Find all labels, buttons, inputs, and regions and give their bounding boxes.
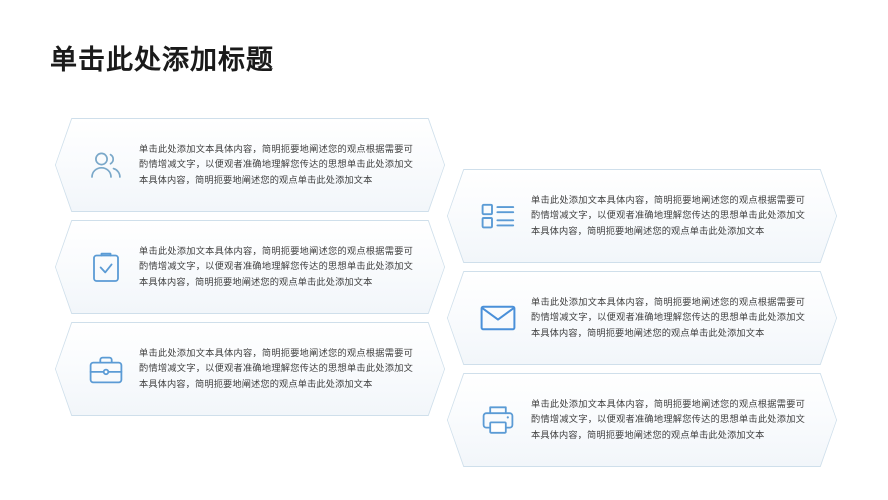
clipboard-check-icon bbox=[73, 251, 139, 283]
card-body-text: 单击此处添加文本具体内容，简明扼要地阐述您的观点根据需要可酌情增减文字，以便观者… bbox=[139, 142, 445, 188]
content-card-envelope[interactable]: 单击此处添加文本具体内容，简明扼要地阐述您的观点根据需要可酌情增减文字，以便观者… bbox=[447, 271, 837, 365]
content-card-list[interactable]: 单击此处添加文本具体内容，简明扼要地阐述您的观点根据需要可酌情增减文字，以便观者… bbox=[447, 169, 837, 263]
card-body-text: 单击此处添加文本具体内容，简明扼要地阐述您的观点根据需要可酌情增减文字，以便观者… bbox=[139, 346, 445, 392]
users-icon bbox=[73, 150, 139, 180]
briefcase-icon bbox=[73, 355, 139, 384]
content-card-printer[interactable]: 单击此处添加文本具体内容，简明扼要地阐述您的观点根据需要可酌情增减文字，以便观者… bbox=[447, 373, 837, 467]
content-card-clipboard[interactable]: 单击此处添加文本具体内容，简明扼要地阐述您的观点根据需要可酌情增减文字，以便观者… bbox=[55, 220, 445, 314]
list-icon bbox=[465, 203, 531, 229]
envelope-icon bbox=[465, 305, 531, 331]
card-body-text: 单击此处添加文本具体内容，简明扼要地阐述您的观点根据需要可酌情增减文字，以便观者… bbox=[531, 193, 837, 239]
printer-icon bbox=[465, 405, 531, 435]
card-body-text: 单击此处添加文本具体内容，简明扼要地阐述您的观点根据需要可酌情增减文字，以便观者… bbox=[139, 244, 445, 290]
card-body-text: 单击此处添加文本具体内容，简明扼要地阐述您的观点根据需要可酌情增减文字，以便观者… bbox=[531, 295, 837, 341]
content-card-briefcase[interactable]: 单击此处添加文本具体内容，简明扼要地阐述您的观点根据需要可酌情增减文字，以便观者… bbox=[55, 322, 445, 416]
page-title: 单击此处添加标题 bbox=[50, 44, 274, 76]
slide-canvas: 单击此处添加标题 单击此处添加文本具体内容，简明扼要地阐述您的观点根据需要可酌情… bbox=[0, 0, 888, 500]
card-body-text: 单击此处添加文本具体内容，简明扼要地阐述您的观点根据需要可酌情增减文字，以便观者… bbox=[531, 397, 837, 443]
content-card-users[interactable]: 单击此处添加文本具体内容，简明扼要地阐述您的观点根据需要可酌情增减文字，以便观者… bbox=[55, 118, 445, 212]
